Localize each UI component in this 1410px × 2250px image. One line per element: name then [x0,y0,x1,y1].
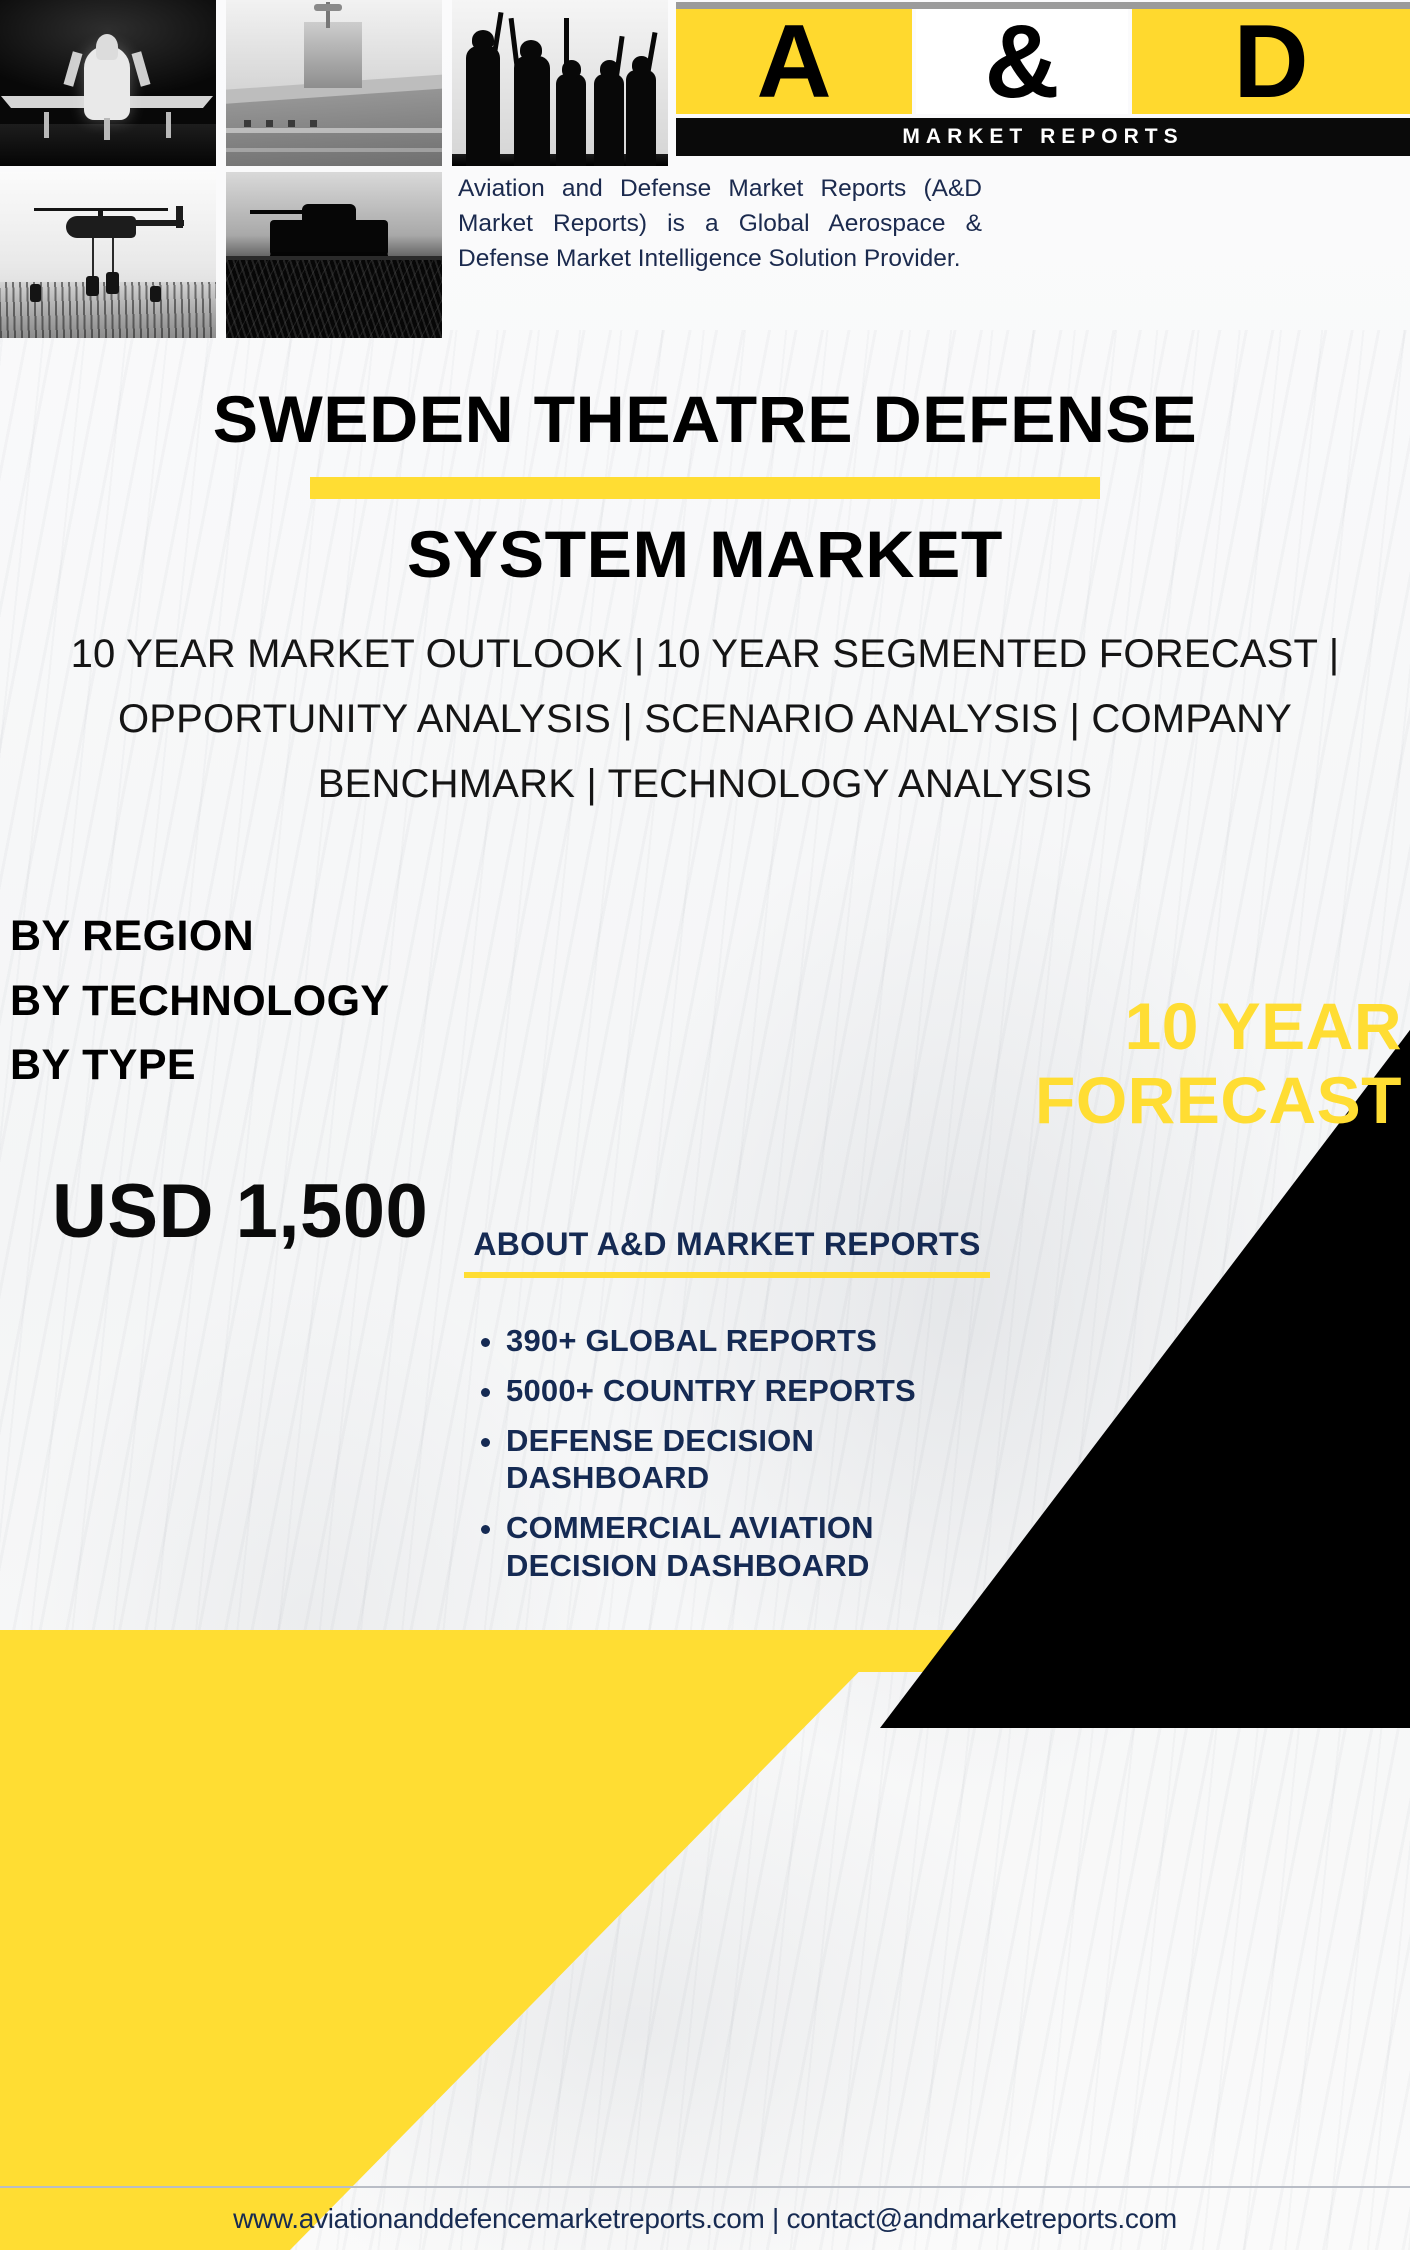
logo-strip-label: MARKET REPORTS [676,118,1410,156]
forecast-badge: 10 YEAR FORECAST [872,990,1402,1138]
soldiers-silhouette-photo [452,0,668,166]
armored-vehicle-photo [226,172,442,338]
segment-item-region: BY REGION [10,904,390,969]
fighter-jet-photo [0,0,216,166]
brand-logo: A & D MARKET REPORTS [676,2,1410,158]
about-section: ABOUT A&D MARKET REPORTS 390+ GLOBAL REP… [462,1226,992,1597]
list-item: 390+ GLOBAL REPORTS [506,1322,992,1360]
footer-contact: www.aviationanddefencemarketreports.com … [0,2188,1410,2250]
forecast-badge-line-1: 10 YEAR [872,990,1402,1064]
poster-body: SWEDEN THEATRE DEFENSE SYSTEM MARKET 10 … [0,342,1410,2250]
list-item: DEFENSE DECISION DASHBOARD [506,1422,992,1498]
aircraft-carrier-photo [226,0,442,166]
segmentation-list: BY REGION BY TECHNOLOGY BY TYPE [10,904,390,1098]
logo-ampersand: & [916,9,1128,114]
price-label: USD 1,500 [52,1168,428,1255]
segment-item-type: BY TYPE [10,1033,390,1098]
logo-letter-d: D [1132,9,1410,114]
logo-letter-a: A [676,9,912,114]
list-item: 5000+ COUNTRY REPORTS [506,1372,992,1410]
about-section-title: ABOUT A&D MARKET REPORTS [462,1226,992,1263]
header-banner: A & D MARKET REPORTS Aviation and Defens… [0,0,1410,342]
title-underline-bar [310,477,1100,499]
about-bullet-list: 390+ GLOBAL REPORTS 5000+ COUNTRY REPORT… [462,1322,992,1585]
report-title-line-1: SWEDEN THEATRE DEFENSE [0,384,1410,455]
report-title: SWEDEN THEATRE DEFENSE SYSTEM MARKET [0,384,1410,591]
report-title-line-2: SYSTEM MARKET [0,519,1410,590]
company-intro-text: Aviation and Defense Market Reports (A&D… [458,172,982,276]
helicopter-photo [0,172,216,338]
about-title-underline [464,1272,990,1278]
list-item: COMMERCIAL AVIATION DECISION DASHBOARD [506,1509,992,1585]
report-scope-subtitle: 10 YEAR MARKET OUTLOOK | 10 YEAR SEGMENT… [38,622,1372,818]
forecast-badge-line-2: FORECAST [872,1064,1402,1138]
segment-item-technology: BY TECHNOLOGY [10,969,390,1034]
